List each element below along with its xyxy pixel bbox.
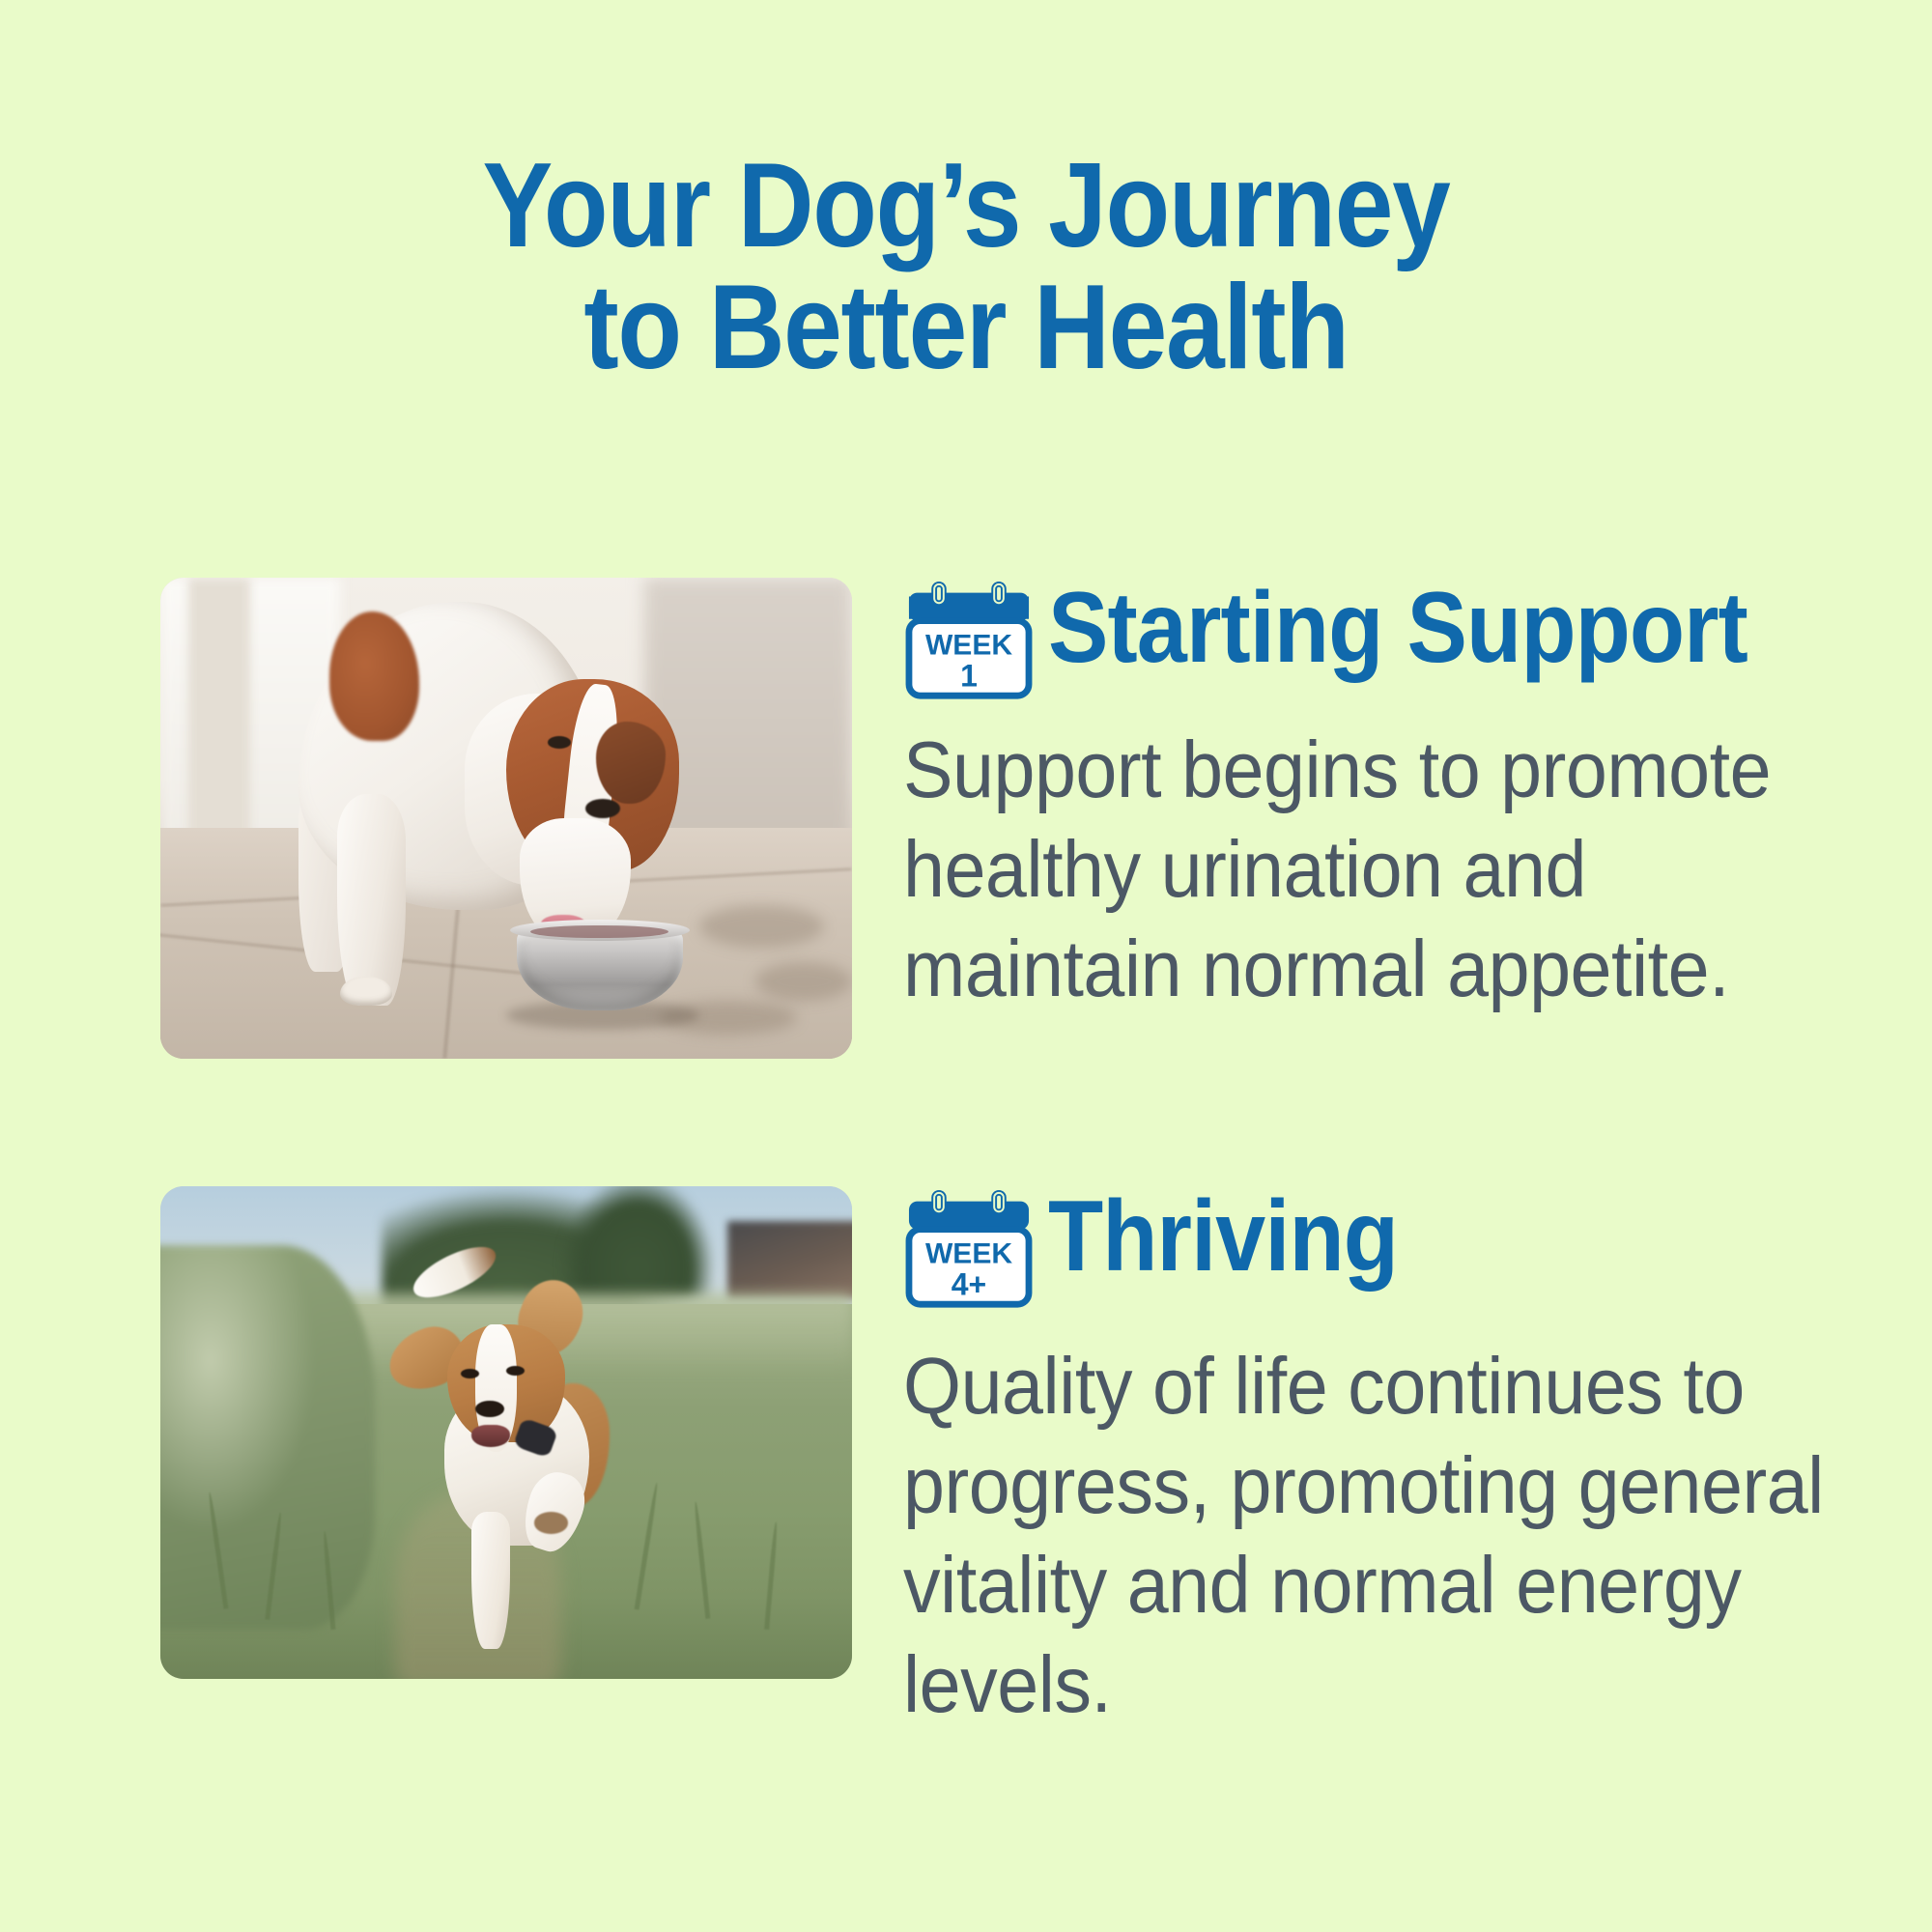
infographic-poster: Your Dog’s Journey to Better Health (0, 0, 1932, 1932)
calendar-week-label: WEEK (925, 1238, 1012, 1270)
calendar-icon: WEEK 4+ (903, 1188, 1035, 1310)
dog-drinking-from-bowl-photo (160, 578, 852, 1059)
page-title: Your Dog’s Journey to Better Health (0, 145, 1932, 389)
step-heading-row-week-1: WEEK 1 Starting Support (903, 578, 1869, 703)
step-body-week-1: Support begins to promote healthy urinat… (903, 721, 1864, 1019)
calendar-icon: WEEK 1 (903, 580, 1035, 701)
step-heading-week-4-plus: Thriving (1048, 1182, 1398, 1291)
step-text-column-week-1: WEEK 1 Starting Support Support begins t… (903, 578, 1869, 1019)
step-heading-row-week-4-plus: WEEK 4+ Thriving (903, 1186, 1869, 1312)
calendar-week-label: WEEK (925, 630, 1012, 662)
step-text-column-week-4-plus: WEEK 4+ Thriving Quality of life continu… (903, 1186, 1869, 1735)
page-title-line-2: to Better Health (116, 267, 1816, 388)
page-title-line-1: Your Dog’s Journey (116, 145, 1816, 267)
step-body-week-4-plus: Quality of life continues to progress, p… (903, 1337, 1873, 1735)
calendar-week-number: 1 (960, 658, 978, 693)
dog-running-in-field-photo (160, 1186, 852, 1679)
step-heading-week-1: Starting Support (1048, 574, 1747, 682)
calendar-week-number: 4+ (952, 1266, 986, 1301)
timeline-step-week-4-plus: WEEK 4+ Thriving Quality of life continu… (0, 1186, 1932, 1669)
timeline-step-week-1: WEEK 1 Starting Support Support begins t… (0, 578, 1932, 1061)
